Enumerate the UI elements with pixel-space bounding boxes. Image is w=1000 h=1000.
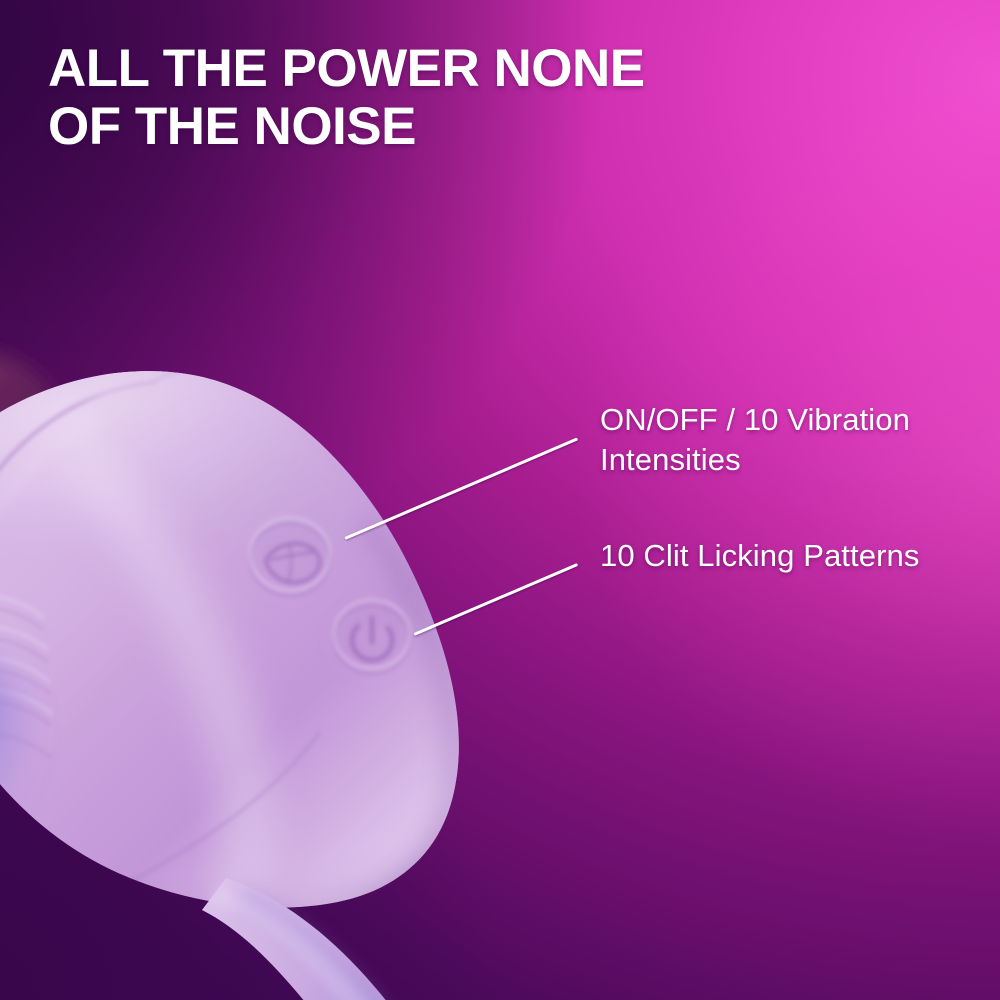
product-feature-image: ALL THE POWER NONE OF THE NOISE ON/OFF /… <box>0 0 1000 1000</box>
callout-label-licking-patterns: 10 Clit Licking Patterns <box>600 536 992 576</box>
callout-label-vibration-intensities: ON/OFF / 10 Vibration Intensities <box>600 400 992 480</box>
page-title: ALL THE POWER NONE OF THE NOISE <box>48 40 808 156</box>
